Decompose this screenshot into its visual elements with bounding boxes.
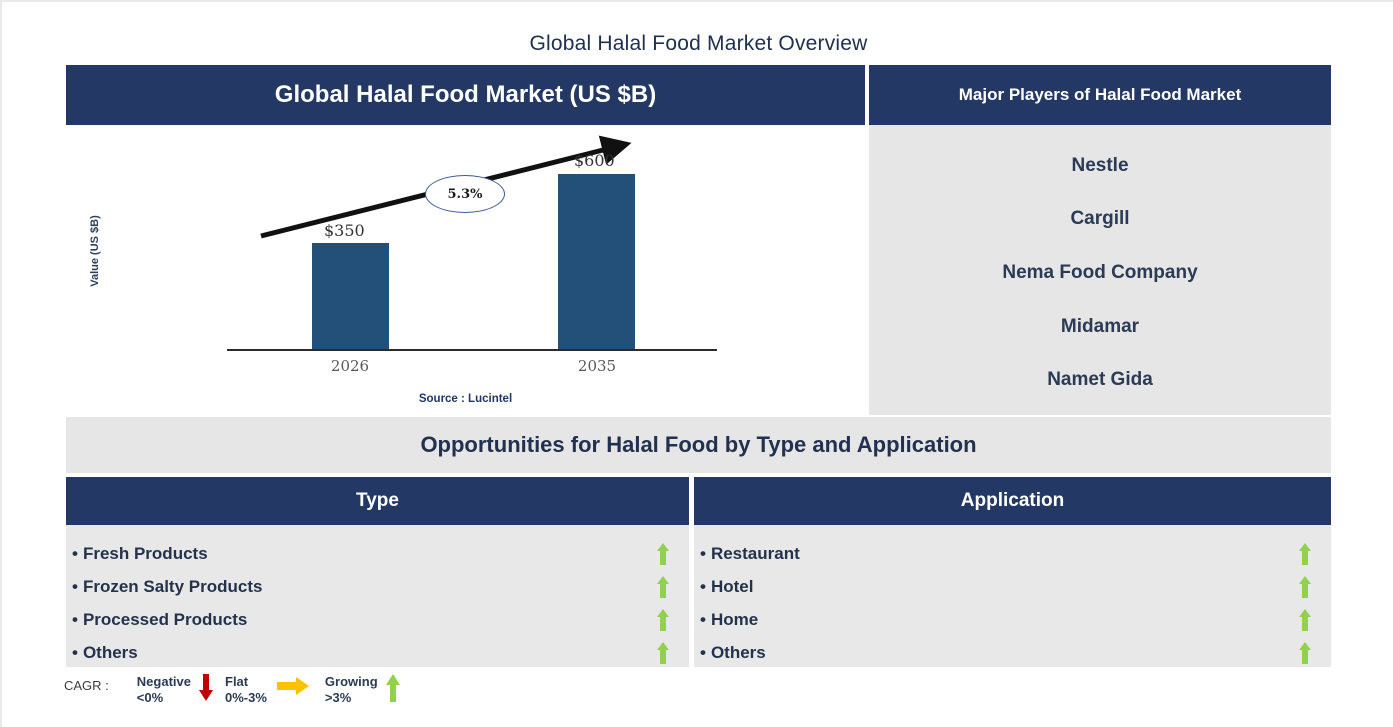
legend-item-growing-range: >3%: [325, 690, 378, 706]
bullet-icon: •: [700, 610, 706, 629]
list-item-text: Others: [83, 643, 138, 662]
list-item-text: Fresh Products: [83, 544, 208, 563]
legend-item-flat-text: Flat 0%-3%: [225, 674, 267, 707]
list-item-label: •Others: [700, 643, 766, 663]
arrow-up-green-icon: [657, 576, 669, 598]
x-axis-line: [227, 349, 717, 351]
arrow-up-green-icon: [1299, 543, 1311, 565]
arrow-up-green-icon: [386, 674, 400, 702]
arrow-up-green-icon: [1299, 576, 1311, 598]
chart-panel-header-label: Global Halal Food Market (US $B): [275, 81, 656, 109]
application-column-header: Application: [694, 477, 1331, 525]
chart-source-note: Source : Lucintel: [66, 393, 865, 405]
list-item: •Frozen Salty Products: [66, 570, 689, 603]
legend-item-growing-name: Growing: [325, 674, 378, 690]
bar-2026: [312, 243, 389, 349]
legend-item-negative-name: Negative: [137, 674, 191, 690]
players-list: Nestle Cargill Nema Food Company Midamar…: [869, 125, 1331, 415]
opportunities-banner-label: Opportunities for Halal Food by Type and…: [420, 432, 976, 458]
list-item-text: Frozen Salty Products: [83, 577, 262, 596]
list-item-label: •Restaurant: [700, 544, 800, 564]
list-item-text: Hotel: [711, 577, 754, 596]
arrow-up-green-icon: [657, 609, 669, 631]
list-item-text: Home: [711, 610, 758, 629]
list-item: •Others: [66, 636, 689, 669]
type-column-header-label: Type: [356, 490, 399, 512]
list-item: Cargill: [869, 208, 1331, 230]
list-item: •Others: [694, 636, 1331, 669]
legend-item-negative: Negative <0%: [137, 674, 219, 707]
page-title: Global Halal Food Market Overview: [2, 32, 1393, 56]
application-column-header-label: Application: [961, 490, 1064, 512]
list-item: •Restaurant: [694, 537, 1331, 570]
infographic-page: Global Halal Food Market Overview Global…: [0, 0, 1393, 727]
list-item: •Hotel: [694, 570, 1331, 603]
bar-value-label-2035: $600: [574, 151, 615, 170]
list-item: Namet Gida: [869, 369, 1331, 391]
x-tick-2035: 2035: [552, 357, 642, 375]
list-item-label: •Home: [700, 610, 758, 630]
arrow-up-green-icon: [1299, 609, 1311, 631]
list-item-label: •Others: [72, 643, 138, 663]
arrow-down-red-icon: [199, 674, 213, 702]
y-axis-label: Value (US $B): [89, 191, 101, 311]
bar-chart: Value (US $B) 5.3% $350 $600 2026 2035 S…: [66, 125, 865, 415]
bar-2035: [558, 174, 635, 349]
arrow-up-green-icon: [657, 642, 669, 664]
legend-item-flat: Flat 0%-3%: [225, 674, 319, 707]
list-item: •Home: [694, 603, 1331, 636]
cagr-legend-title: CAGR :: [64, 674, 109, 693]
players-panel-header-label: Major Players of Halal Food Market: [959, 85, 1241, 105]
legend-item-flat-name: Flat: [225, 674, 267, 690]
bullet-icon: •: [72, 577, 78, 596]
chart-panel-header: Global Halal Food Market (US $B): [66, 65, 865, 125]
bullet-icon: •: [72, 544, 78, 563]
cagr-value: 5.3%: [448, 187, 483, 202]
list-item-label: •Fresh Products: [72, 544, 208, 564]
list-item: Nestle: [869, 155, 1331, 177]
list-item: •Processed Products: [66, 603, 689, 636]
cagr-callout-bubble: 5.3%: [425, 175, 505, 213]
bullet-icon: •: [72, 643, 78, 662]
legend-item-flat-range: 0%-3%: [225, 690, 267, 706]
list-item: •Fresh Products: [66, 537, 689, 570]
legend-item-growing: Growing >3%: [325, 674, 400, 707]
legend-item-negative-text: Negative <0%: [137, 674, 191, 707]
list-item-text: Others: [711, 643, 766, 662]
list-item-text: Processed Products: [83, 610, 247, 629]
arrow-up-green-icon: [657, 543, 669, 565]
list-item-text: Restaurant: [711, 544, 800, 563]
list-item: Midamar: [869, 316, 1331, 338]
list-item-label: •Processed Products: [72, 610, 247, 630]
bullet-icon: •: [72, 610, 78, 629]
bullet-icon: •: [700, 577, 706, 596]
cagr-legend: CAGR : Negative <0% Flat 0%-3% Growing >…: [64, 674, 406, 707]
bullet-icon: •: [700, 544, 706, 563]
legend-item-negative-range: <0%: [137, 690, 191, 706]
arrow-right-yellow-icon: [277, 677, 311, 697]
application-list: •Restaurant •Hotel •Home •Others: [694, 525, 1331, 667]
arrow-up-green-icon: [1299, 642, 1311, 664]
list-item-label: •Hotel: [700, 577, 753, 597]
list-item: Nema Food Company: [869, 262, 1331, 284]
opportunities-banner: Opportunities for Halal Food by Type and…: [66, 417, 1331, 473]
type-column-header: Type: [66, 477, 689, 525]
bullet-icon: •: [700, 643, 706, 662]
list-item-label: •Frozen Salty Products: [72, 577, 262, 597]
players-panel-header: Major Players of Halal Food Market: [869, 65, 1331, 125]
legend-item-growing-text: Growing >3%: [325, 674, 378, 707]
x-tick-2026: 2026: [305, 357, 395, 375]
bar-value-label-2026: $350: [324, 221, 365, 240]
type-list: •Fresh Products •Frozen Salty Products •…: [66, 525, 689, 667]
